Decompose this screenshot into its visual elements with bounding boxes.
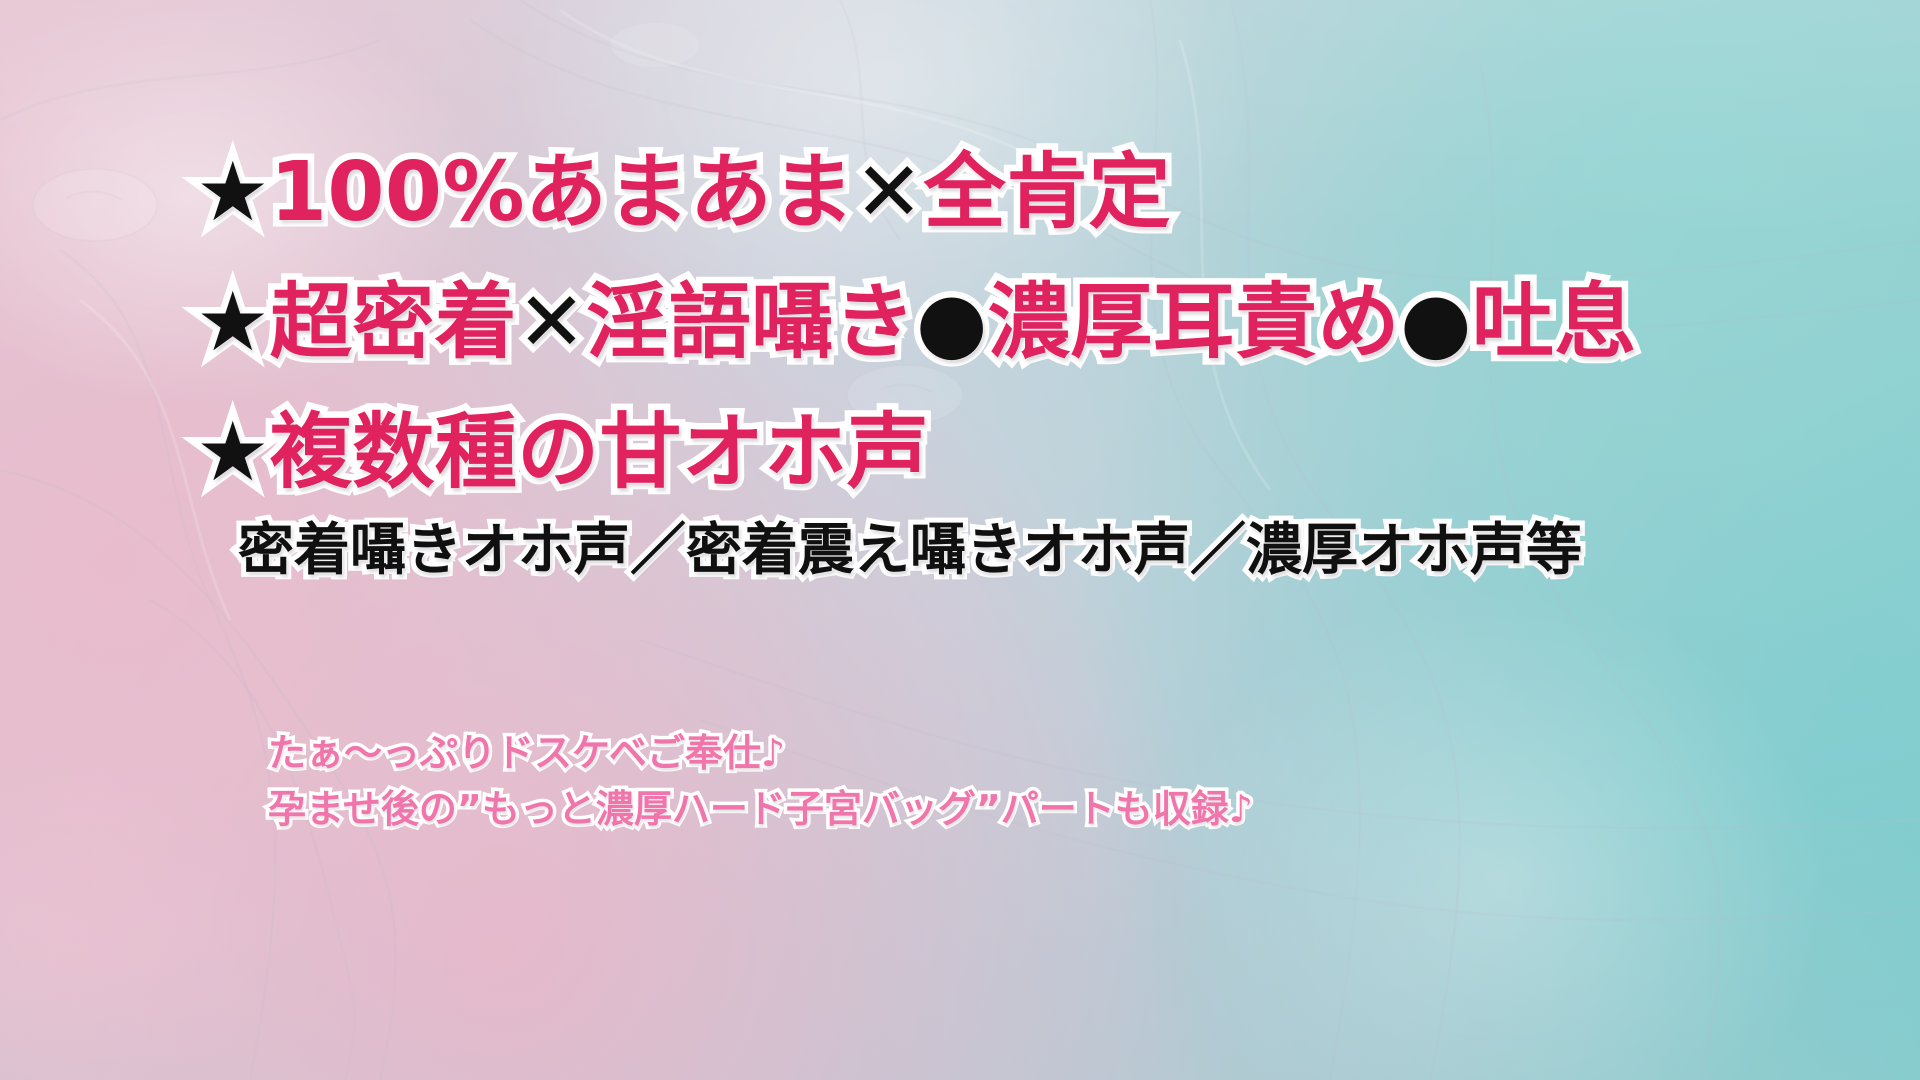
feature-3-segment-1: 複数種の甘オホ声 (270, 405, 929, 500)
cross-icon: ✕ (517, 275, 586, 370)
feature-2-segment-5: 濃厚耳責め (988, 275, 1400, 370)
cross-icon: ✕ (855, 145, 924, 240)
star-icon: ★ (196, 275, 270, 370)
banner-content: ★100%あまあま✕全肯定 ★超密着✕淫語囁き●濃厚耳責め●吐息 ★複数種の甘オ… (0, 0, 1920, 1080)
feature-line-1: ★100%あまあま✕全肯定 (196, 125, 1171, 244)
star-icon: ★ (196, 145, 270, 240)
feature-2-segment-7: 吐息 (1472, 275, 1637, 370)
bullet-dot-icon: ● (1400, 275, 1472, 370)
feature-1-segment-1: 100%あまあま (270, 145, 855, 240)
feature-line-3: ★複数種の甘オホ声 (196, 385, 929, 504)
star-icon: ★ (196, 405, 270, 500)
bullet-dot-icon: ● (916, 275, 988, 370)
feature-1-segment-3: 全肯定 (924, 145, 1171, 240)
feature-line-2: ★超密着✕淫語囁き●濃厚耳責め●吐息 (196, 255, 1637, 374)
bottom-tagline-2: 孕ませ後の”もっと濃厚ハード子宮バッグ”パートも収録♪ (268, 778, 1253, 833)
promo-banner: ★100%あまあま✕全肯定 ★超密着✕淫語囁き●濃厚耳責め●吐息 ★複数種の甘オ… (0, 0, 1920, 1080)
voice-variations-subline: 密着囁きオホ声／密着震え囁きオホ声／濃厚オホ声等 (238, 505, 1582, 586)
feature-2-segment-1: 超密着 (270, 275, 517, 370)
feature-2-segment-3: 淫語囁き (586, 275, 916, 370)
bottom-tagline-1: たぁ～っぷりドスケベご奉仕♪ (268, 722, 785, 777)
